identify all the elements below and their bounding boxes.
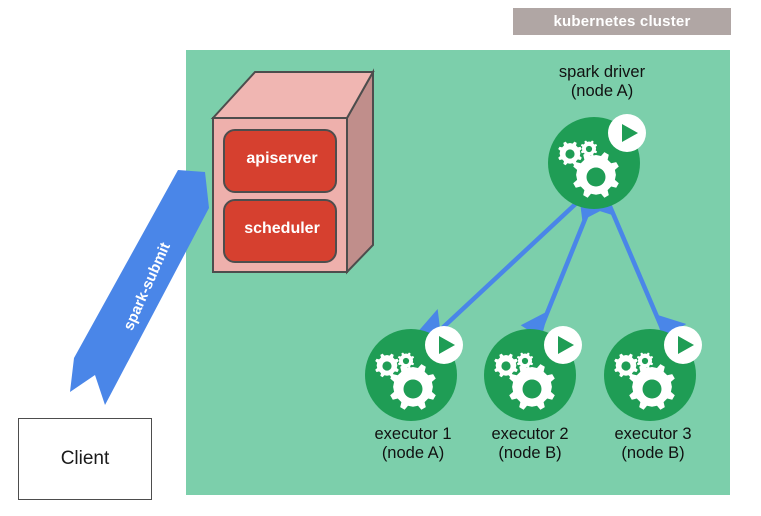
arrow-driver-executor-3[interactable] — [584, 185, 687, 345]
client-label: Client — [61, 448, 110, 470]
spark-driver-caption-line1: spark driver — [527, 63, 677, 82]
node-executor-2[interactable] — [484, 326, 582, 421]
node-executor-1[interactable] — [365, 326, 463, 421]
node-executor-3[interactable] — [604, 326, 702, 421]
control-plane-cube — [213, 72, 373, 272]
executor-3-caption-line1: executor 3 — [578, 425, 728, 444]
executor-3-caption: executor 3 (node B) — [578, 425, 728, 463]
executor-3-caption-line2: (node B) — [578, 444, 728, 463]
spark-driver-caption-line2: (node A) — [527, 82, 677, 101]
spark-submit-arrow[interactable] — [70, 170, 209, 405]
client-box[interactable]: Client — [18, 418, 152, 500]
driver-executor-arrows — [415, 183, 686, 347]
apiserver-label: apiserver — [222, 150, 342, 168]
cube-top-face — [213, 72, 373, 118]
diagram-canvas: kubernetes cluster — [0, 0, 761, 516]
node-spark-driver[interactable] — [548, 114, 646, 209]
spark-driver-caption: spark driver (node A) — [527, 63, 677, 101]
scheduler-label: scheduler — [222, 220, 342, 238]
arrow-driver-executor-1[interactable] — [415, 183, 605, 347]
